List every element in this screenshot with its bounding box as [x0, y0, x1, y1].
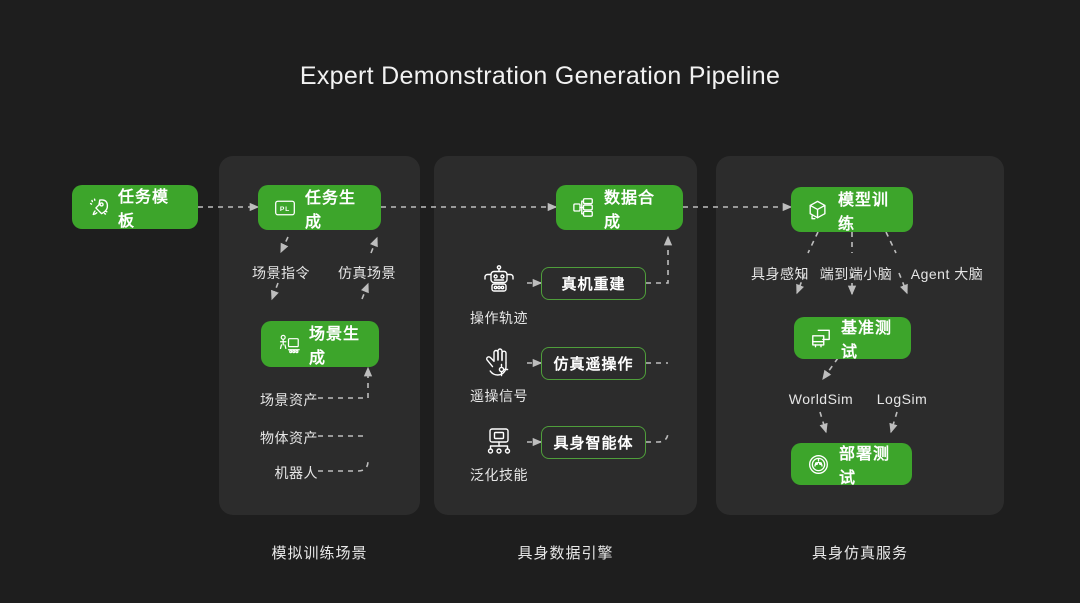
rocket-icon	[88, 197, 109, 218]
glove-icon	[478, 344, 520, 384]
edge-label-scene-instruction: 场景指令	[236, 263, 326, 283]
node-data-synthesis[interactable]: 数据合成	[556, 185, 683, 230]
benchmark-screen-icon	[810, 328, 832, 349]
edge-label-end-to-end-cerebellum: 端到端小脑	[810, 264, 902, 284]
deploy-seal-icon	[807, 453, 830, 476]
scene-builder-icon	[277, 333, 300, 355]
node-task-generation-label: 任务生成	[305, 184, 365, 232]
input-label-scene-assets: 场景资产	[228, 390, 318, 410]
node-scene-generation[interactable]: 场景生成	[261, 321, 379, 367]
box-simulated-teleoperation-label: 仿真遥操作	[553, 353, 633, 374]
node-benchmark-test-label: 基准测试	[841, 314, 895, 362]
node-benchmark-test[interactable]: 基准测试	[794, 317, 911, 359]
box-real-machine-reconstruction-label: 真机重建	[561, 273, 625, 294]
edge-label-embodied-perception: 具身感知	[740, 264, 820, 284]
box-real-machine-reconstruction[interactable]: 真机重建	[541, 267, 646, 300]
edge-label-worldsim: WorldSim	[775, 391, 867, 407]
caption-panel-simulation-training: 模拟训练场景	[219, 542, 420, 563]
node-task-generation[interactable]: PL 任务生成	[258, 185, 381, 230]
source-label-teleop-signal: 遥操信号	[455, 386, 543, 406]
input-label-robot: 机器人	[228, 463, 318, 483]
node-task-template[interactable]: 任务模板	[72, 185, 198, 229]
robot-icon	[478, 262, 520, 304]
node-task-template-label: 任务模板	[118, 183, 182, 231]
svg-text:PL: PL	[280, 205, 290, 212]
caption-panel-simulation-service: 具身仿真服务	[716, 542, 1004, 563]
cube-train-icon	[807, 199, 829, 221]
box-simulated-teleoperation[interactable]: 仿真遥操作	[541, 347, 646, 380]
node-scene-generation-label: 场景生成	[309, 320, 363, 368]
pl-tag-icon: PL	[274, 198, 296, 218]
node-model-training-label: 模型训练	[838, 186, 897, 234]
node-model-training[interactable]: 模型训练	[791, 187, 913, 232]
node-deployment-test-label: 部署测试	[839, 440, 896, 488]
box-embodied-agent-label: 具身智能体	[553, 432, 633, 453]
edge-label-logsim: LogSim	[866, 391, 938, 407]
diagram-canvas: Expert Demonstration Generation Pipeline	[0, 0, 1080, 603]
node-data-synthesis-label: 数据合成	[604, 184, 667, 232]
node-deployment-test[interactable]: 部署测试	[791, 443, 912, 485]
caption-panel-data-engine: 具身数据引擎	[434, 542, 697, 563]
edge-label-simulation-scene: 仿真场景	[322, 263, 412, 283]
data-sync-icon	[572, 197, 595, 218]
source-label-operation-trajectory: 操作轨迹	[455, 308, 543, 328]
input-label-object-assets: 物体资产	[228, 428, 318, 448]
agent-icon	[478, 422, 520, 462]
page-title: Expert Demonstration Generation Pipeline	[0, 62, 1080, 91]
edge-label-agent-brain: Agent 大脑	[897, 264, 997, 284]
source-label-generalization-skills: 泛化技能	[455, 465, 543, 485]
box-embodied-agent[interactable]: 具身智能体	[541, 426, 646, 459]
